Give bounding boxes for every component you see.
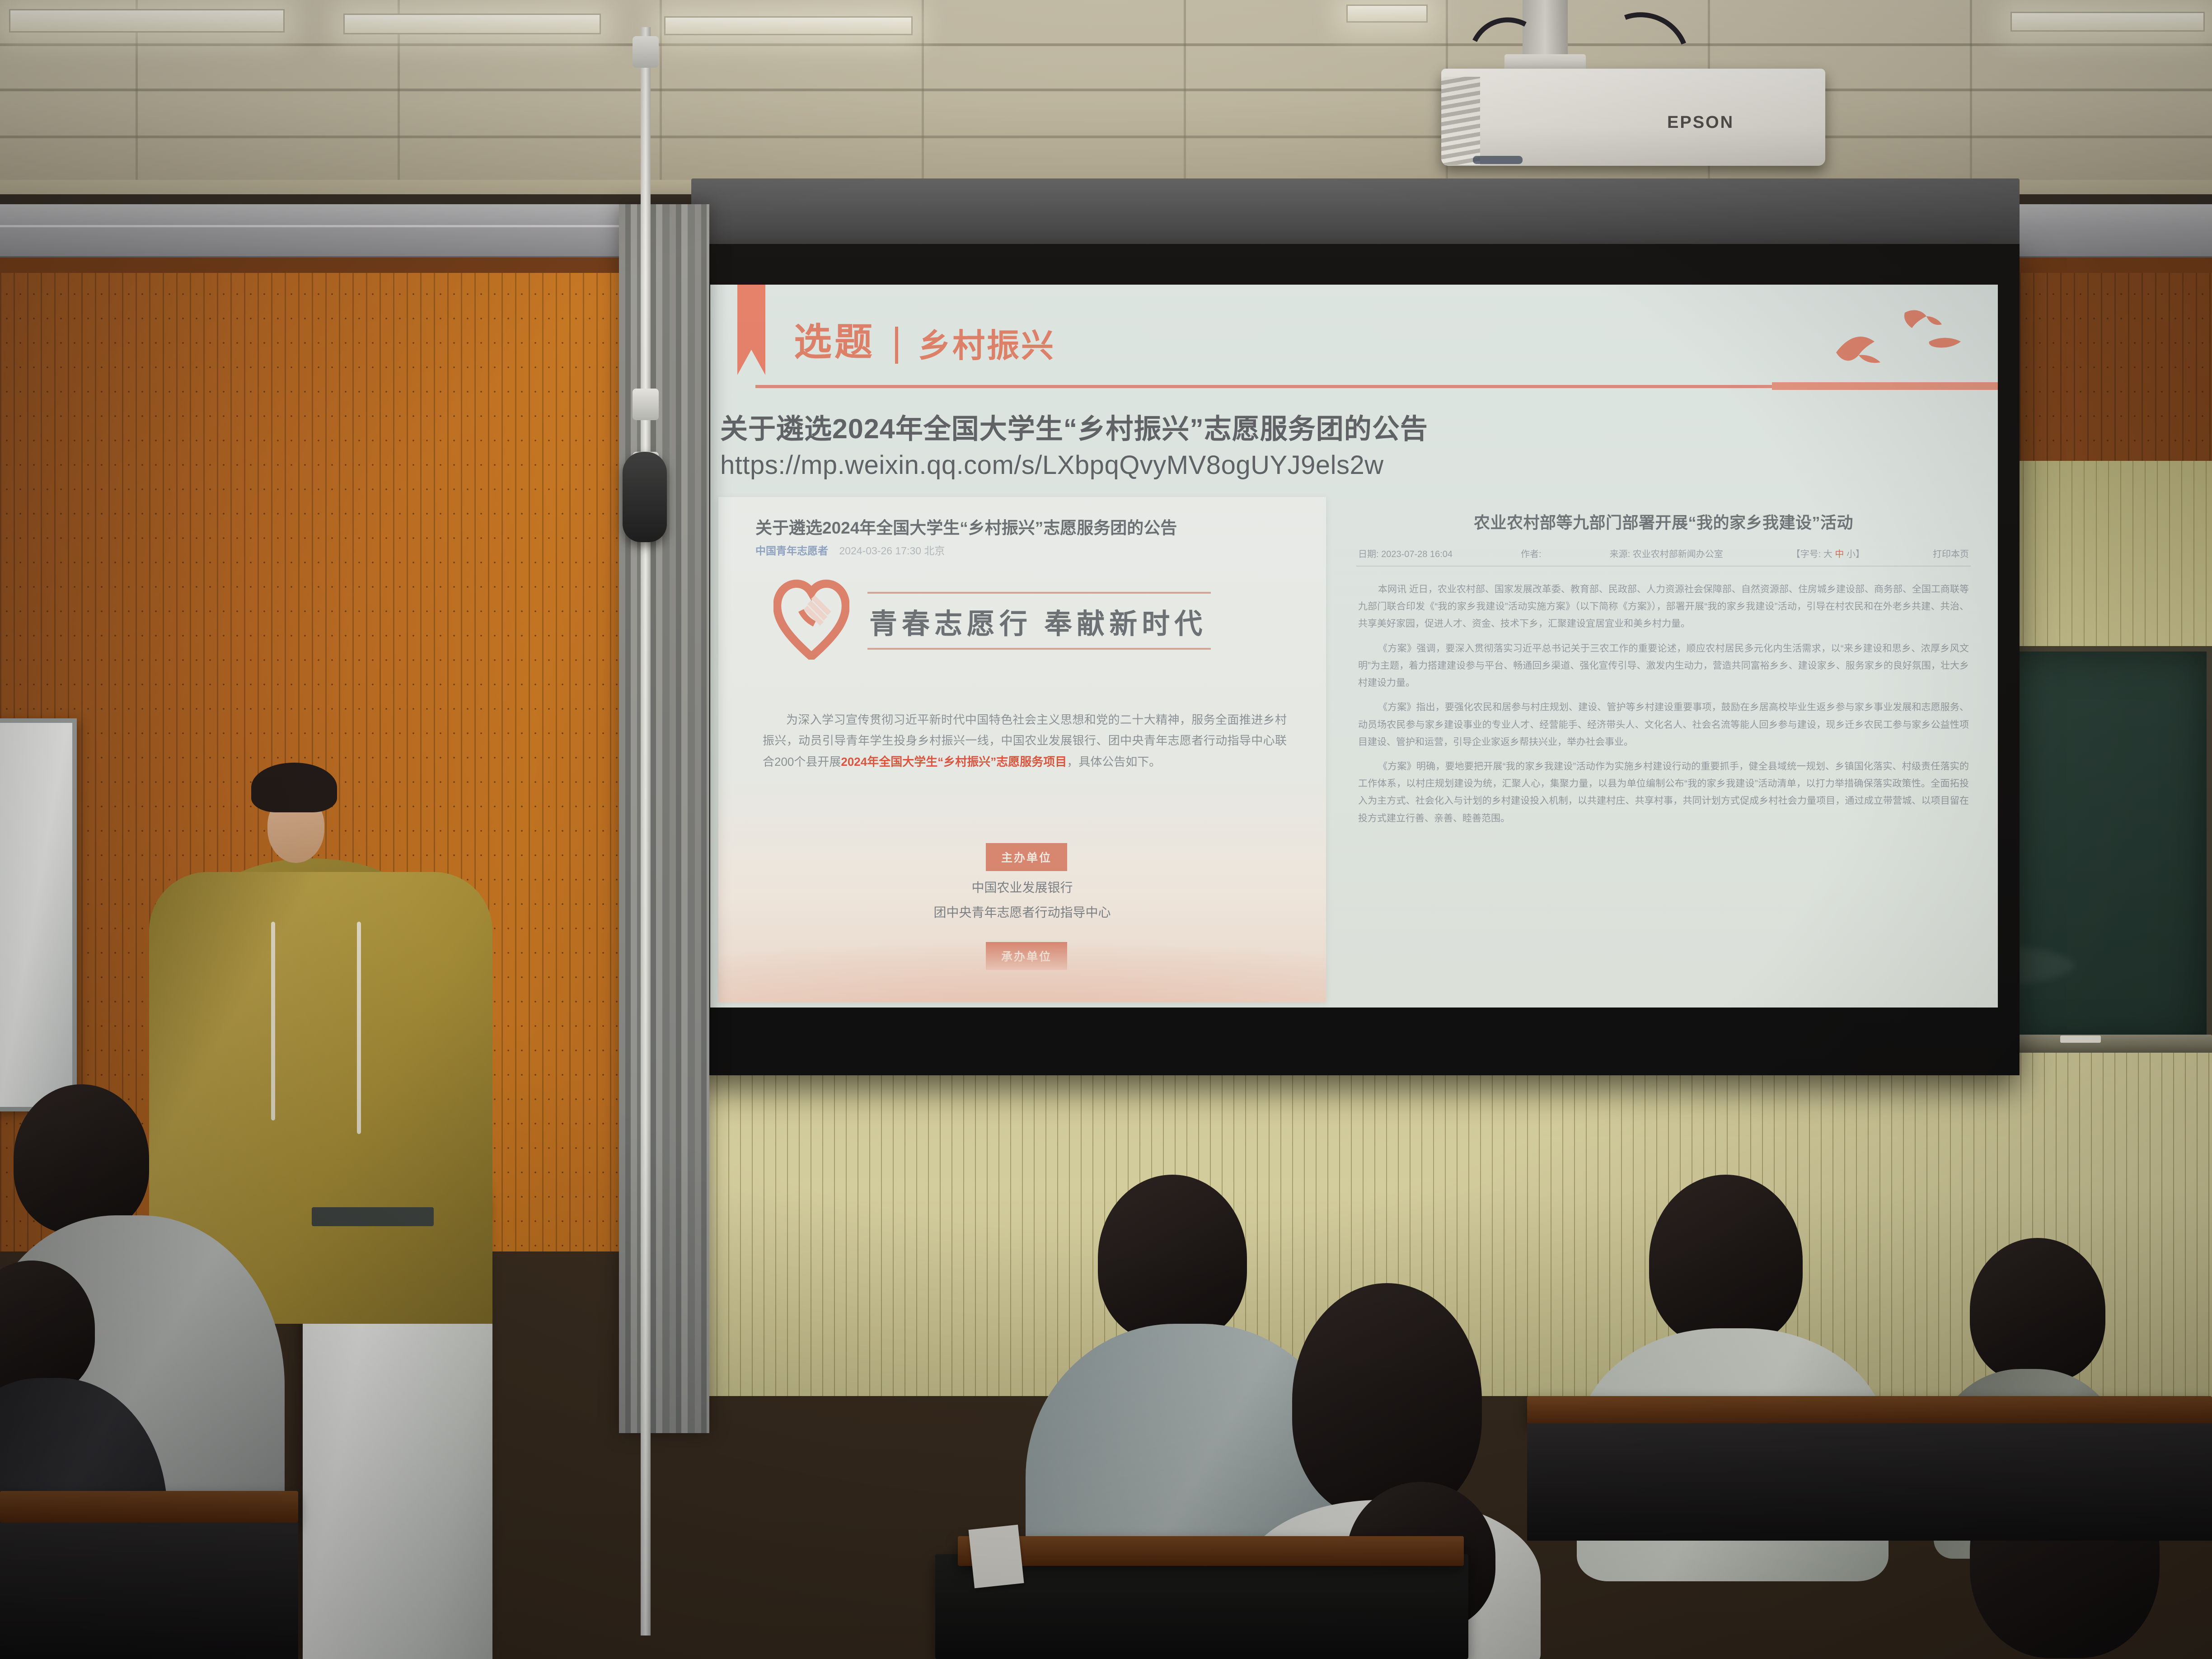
projector-lens: [1473, 156, 1523, 164]
gov-article-card[interactable]: 农业农村部等九部门部署开展“我的家乡我建设”活动 日期: 2023-07-28 …: [1343, 497, 1984, 1002]
slogan-hero-banner: 青春志愿行 奉献新时代: [718, 565, 1326, 714]
projector-vent: [1441, 77, 1480, 165]
ceiling: [0, 0, 2212, 181]
ceiling-light: [664, 16, 913, 35]
slide-header-divider: [895, 327, 898, 364]
gov-paragraph: 《方案》强调，要深入贯彻落实习近平总书记关于三农工作的重要论述，顺应农村居民多元…: [1358, 640, 1969, 692]
fontsize-medium[interactable]: 中: [1835, 549, 1844, 559]
slogan-block: 青春志愿行 奉献新时代: [867, 592, 1211, 650]
slide-url-text: https://mp.weixin.qq.com/s/LXbpqQvyMV8og…: [720, 448, 1976, 483]
ceiling-grid: [0, 0, 2212, 181]
student-head: [1649, 1175, 1803, 1346]
student-desk: [0, 1491, 298, 1523]
desk-front-panel: [1527, 1423, 2212, 1541]
wechat-article-card[interactable]: 关于遴选2024年全国大学生“乡村振兴”志愿服务团的公告 中国青年志愿者 202…: [718, 497, 1326, 1002]
curtain-left: [619, 204, 709, 1433]
fontsize-small[interactable]: 小】: [1846, 549, 1865, 559]
bookmark-ribbon-icon: [737, 285, 765, 375]
slide-header-label: 选题: [794, 312, 875, 366]
organizer-name-2: 团中央青年志愿者行动指导中心: [718, 900, 1326, 925]
fontsize-big[interactable]: 大: [1823, 549, 1832, 559]
wechat-article-title: 关于遴选2024年全国大学生“乡村振兴”志愿服务团的公告: [755, 514, 1298, 539]
ceiling-light: [9, 9, 285, 33]
ceiling-light: [1346, 5, 1428, 23]
gov-article-title: 农业农村部等九部门部署开展“我的家乡我建设”活动: [1343, 510, 1984, 533]
desk-front-panel: [0, 1523, 298, 1659]
slide-title-text: 关于遴选2024年全国大学生“乡村振兴”志愿服务团的公告: [720, 410, 1976, 448]
meta-fontsize-control[interactable]: 【字号: 大 中 小】: [1791, 547, 1865, 560]
projector-brand-label: EPSON: [1667, 113, 1734, 132]
wechat-account-name[interactable]: 中国青年志愿者: [755, 545, 828, 557]
whiteboard: [0, 718, 77, 1111]
paragraph-suffix: ，具体公告如下。: [1067, 755, 1161, 769]
organizer-name-1: 中国农业发展银行: [718, 876, 1326, 900]
meta-author: 作者:: [1521, 547, 1542, 560]
ceiling-light: [2010, 12, 2205, 32]
student-head: [1970, 1238, 2105, 1382]
card-bottom-decoration: [718, 934, 1326, 1002]
wechat-article-meta: 2024-03-26 17:30 北京: [839, 545, 945, 557]
meta-date: 日期: 2023-07-28 16:04: [1358, 547, 1453, 560]
slogan-rule-top: [867, 592, 1211, 594]
organizer-names: 中国农业发展银行 团中央青年志愿者行动指导中心: [718, 876, 1326, 925]
gov-article-body: 本网讯 近日，农业农村部、国家发展改革委、教育部、民政部、人力资源社会保障部、自…: [1358, 581, 1969, 834]
pole-clamp: [633, 389, 659, 420]
gov-paragraph: 《方案》指出，要强化农民和居参与村庄规划、建设、管护等乡村建设重要事项，鼓励在乡…: [1358, 699, 1969, 751]
student-desk: [1527, 1396, 2212, 1424]
paragraph-highlight: 2024年全国大学生“乡村振兴”志愿服务项目: [841, 755, 1067, 769]
microphone-icon: [623, 452, 667, 542]
pole-clamp: [633, 36, 659, 68]
hoodie-drawstring: [357, 922, 361, 1134]
heart-hand-icon: [773, 579, 849, 660]
meta-source: 来源: 农业农村部新闻办公室: [1610, 547, 1723, 560]
student-head: [14, 1084, 149, 1233]
badge-host-unit: 主办单位: [986, 843, 1067, 871]
gov-article-meta-row: 日期: 2023-07-28 16:04 作者: 来源: 农业农村部新闻办公室 …: [1343, 547, 1984, 560]
projection-screen-pole[interactable]: [641, 27, 651, 1636]
gov-article-divider: [1356, 566, 1971, 567]
slide-header: 选题 乡村振兴: [794, 312, 1055, 366]
ceiling-light: [343, 14, 601, 34]
slogan-rule-bottom: [867, 648, 1211, 650]
student-desk: [958, 1536, 1464, 1566]
slide-header-topic: 乡村振兴: [918, 319, 1055, 366]
slide-header-rule-accent: [1772, 382, 1998, 390]
flying-birds-icon: [1791, 298, 1972, 380]
wechat-article-byline: 中国青年志愿者 2024-03-26 17:30 北京: [755, 542, 945, 558]
print-page-link[interactable]: 打印本页: [1933, 547, 1969, 560]
presenter-hair-front: [251, 763, 337, 812]
slide-title-block: 关于遴选2024年全国大学生“乡村振兴”志愿服务团的公告 https://mp.…: [720, 410, 1976, 483]
wechat-article-paragraph: 为深入学习宣传贯彻习近平新时代中国特色社会主义思想和党的二十大精神，服务全面推进…: [763, 709, 1287, 772]
paper-sheet: [969, 1525, 1024, 1589]
classroom-scene: EPSON 选题 乡村振兴: [0, 0, 2212, 1659]
projector: [1441, 69, 1825, 166]
gov-paragraph: 《方案》明确，要地要把开展“我的家乡我建设”活动作为实施乡村建设行动的重要抓手，…: [1358, 758, 1969, 827]
gov-paragraph: 本网讯 近日，农业农村部、国家发展改革委、教育部、民政部、人力资源社会保障部、自…: [1358, 581, 1969, 633]
projected-slide: 选题 乡村振兴 关于遴选2024年全国大学生“乡村振兴”志愿服务团的公告 htt…: [710, 285, 1998, 1008]
student-head: [0, 1261, 95, 1396]
slogan-text: 青春志愿行 奉献新时代: [869, 601, 1211, 642]
projection-screen-casing: [691, 178, 2020, 246]
